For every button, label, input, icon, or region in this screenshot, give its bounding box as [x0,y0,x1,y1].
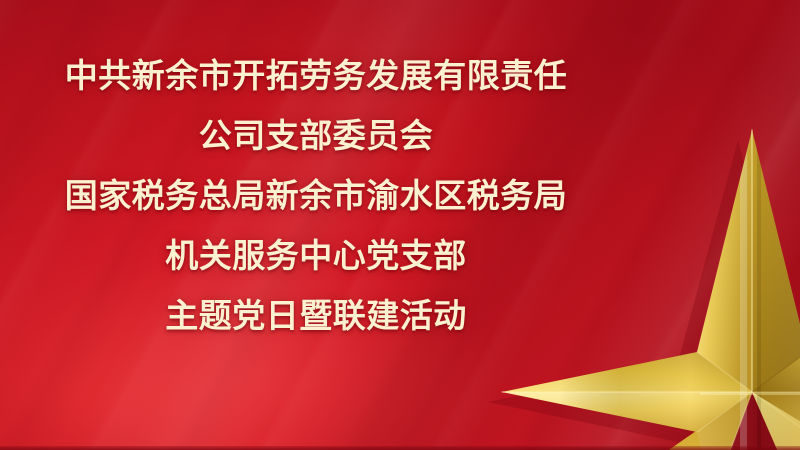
title-block: 中共新余市开拓劳务发展有限责任 公司支部委员会 国家税务总局新余市渝水区税务局 … [0,46,632,346]
banner-slide: 中共新余市开拓劳务发展有限责任 公司支部委员会 国家税务总局新余市渝水区税务局 … [0,0,800,450]
title-line-4: 机关服务中心党支部 [0,226,632,286]
title-line-2: 公司支部委员会 [0,106,632,166]
title-line-5: 主题党日暨联建活动 [0,286,632,346]
title-line-3: 国家税务总局新余市渝水区税务局 [0,166,632,226]
bottom-edge-shadow [0,446,800,450]
title-line-1: 中共新余市开拓劳务发展有限责任 [0,46,632,106]
